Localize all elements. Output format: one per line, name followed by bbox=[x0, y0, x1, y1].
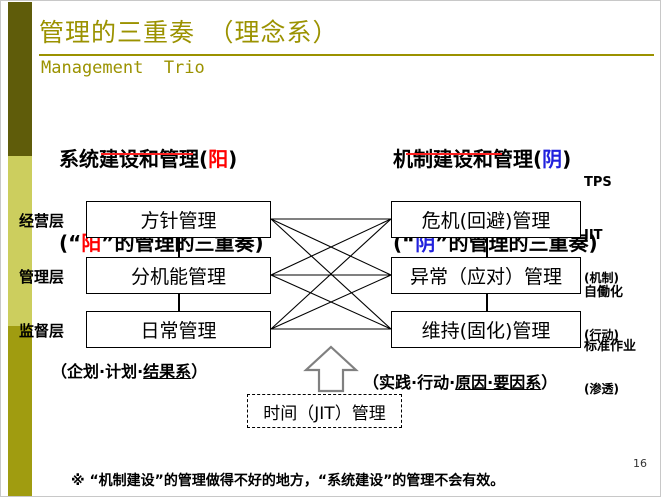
sidebar-band-top bbox=[8, 2, 32, 156]
right-heading-line1-post: ) bbox=[562, 147, 571, 171]
annotation-standard-work-sub: (渗透) bbox=[584, 382, 636, 396]
left-connector-1 bbox=[178, 238, 180, 257]
caption-right-pre: （实践·行动· bbox=[363, 373, 455, 392]
annotation-standard-work-main: 标准作业 bbox=[584, 340, 636, 354]
left-box-daily-management[interactable]: 日常管理 bbox=[86, 311, 271, 348]
left-box-function-management[interactable]: 分机能管理 bbox=[86, 257, 271, 294]
jit-time-management-box[interactable]: 时间（JIT）管理 bbox=[247, 394, 402, 428]
sidebar-band-bottom bbox=[8, 326, 32, 497]
right-box-maintenance-management[interactable]: 维持(固化)管理 bbox=[391, 311, 581, 348]
right-box-crisis-management[interactable]: 危机(回避)管理 bbox=[391, 201, 581, 238]
title-divider bbox=[39, 54, 654, 56]
caption-left: （企划·计划·结果系） bbox=[51, 358, 207, 382]
layer-label-management-level: 经营层 bbox=[19, 210, 64, 231]
annotation-tps: TPS bbox=[584, 176, 612, 190]
page-title: 管理的三重奏 （理念系） bbox=[39, 13, 339, 49]
left-connector-2 bbox=[178, 294, 180, 311]
caption-left-underlined: 结果系 bbox=[143, 362, 191, 381]
right-heading-line1-pre: 机制建设和管理( bbox=[393, 147, 542, 171]
page-number: 16 bbox=[633, 457, 647, 470]
right-heading-underline bbox=[406, 153, 502, 155]
left-heading-line1: 系统建设和管理(阳) bbox=[59, 145, 264, 173]
sidebar-band-middle bbox=[8, 156, 32, 326]
footnote: ※ “机制建设”的管理做得不好的地方，“系统建设”的管理不会有效。 （不能发挥作… bbox=[71, 451, 591, 497]
left-heading-line2-pre: (“ bbox=[59, 231, 81, 255]
up-arrow-icon bbox=[303, 344, 359, 394]
left-heading-accent-yang: 阳 bbox=[208, 147, 228, 171]
annotation-standard-work: 标准作业 (渗透) bbox=[584, 312, 636, 424]
footnote-line-1: ※ “机制建设”的管理做得不好的地方，“系统建设”的管理不会有效。 bbox=[71, 471, 591, 491]
left-heading-line1-post: ) bbox=[228, 147, 237, 171]
caption-right-post: ） bbox=[541, 373, 557, 392]
annotation-jidoka-main: 自働化 bbox=[584, 286, 623, 300]
right-connector-1 bbox=[486, 238, 488, 257]
left-box-policy-management[interactable]: 方针管理 bbox=[86, 201, 271, 238]
right-heading-line1: 机制建设和管理(阴) bbox=[393, 145, 598, 173]
left-heading-line1-pre: 系统建设和管理( bbox=[59, 147, 208, 171]
caption-left-post: ） bbox=[191, 362, 207, 381]
page-subtitle-english: Management Trio bbox=[41, 58, 205, 78]
left-heading-underline bbox=[101, 153, 193, 155]
layer-label-supervision-level: 监督层 bbox=[19, 320, 64, 341]
caption-right-underlined: 原因·要因系 bbox=[455, 373, 541, 392]
annotation-jit-main: JIT bbox=[584, 229, 619, 243]
layer-label-administration-level: 管理层 bbox=[19, 266, 64, 287]
right-heading-accent-yin: 阴 bbox=[542, 147, 562, 171]
right-connector-2 bbox=[486, 294, 488, 311]
caption-right: （实践·行动·原因·要因系） bbox=[363, 369, 557, 393]
right-box-abnormality-management[interactable]: 异常（应对）管理 bbox=[391, 257, 581, 294]
caption-left-pre: （企划·计划· bbox=[51, 362, 143, 381]
slide-canvas: 管理的三重奏 （理念系） Management Trio 系统建设和管理(阳) … bbox=[0, 0, 661, 497]
